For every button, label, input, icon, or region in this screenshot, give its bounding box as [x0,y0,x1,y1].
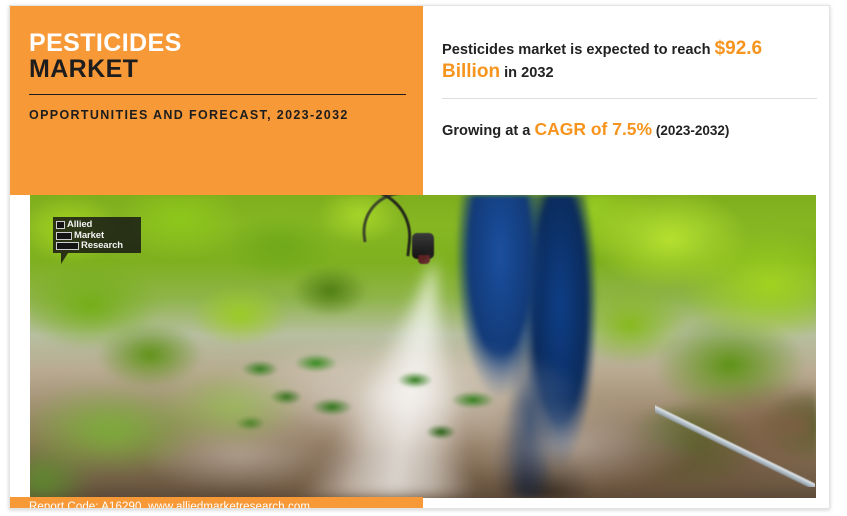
stat-cagr: Growing at a CAGR of 7.5% (2023-2032) [442,119,817,142]
logo-row-1: Allied [56,220,141,230]
stat-market-size-suffix: in 2032 [500,65,554,81]
logo-text-rows: Allied Market Research [53,217,141,253]
photo-plant-right-layer [385,360,525,480]
logo-square-small-icon [56,221,65,229]
screenshot-canvas: PESTICIDES MARKET OPPORTUNITIES AND FORE… [0,0,847,516]
photo-metal-pipe-layer [655,391,815,487]
logo-line-2: Market [74,231,104,241]
logo-square-large-icon [56,242,79,250]
page-subtitle: OPPORTUNITIES AND FORECAST, 2023-2032 [29,106,399,125]
stat-cagr-prefix: Growing at a [442,123,534,139]
page-title: PESTICIDES MARKET [29,30,182,82]
hero-photo: Allied Market Research [30,195,816,498]
stats-panel: Pesticides market is expected to reach $… [442,6,830,195]
report-footer-bar: Report Code: A16290, www.alliedmarketres… [10,497,423,509]
logo-bubble-tail-icon [61,253,68,264]
title-divider [29,94,406,95]
stat-cagr-value: CAGR of 7.5% [534,119,652,139]
market-report-card: PESTICIDES MARKET OPPORTUNITIES AND FORE… [9,5,830,509]
logo-row-3: Research [56,241,141,251]
logo-square-medium-icon [56,232,72,240]
logo-row-2: Market [56,231,141,241]
report-code-text: Report Code: A16290, www.alliedmarketres… [29,501,310,509]
logo-line-1: Allied [67,220,92,230]
stat-market-size-prefix: Pesticides market is expected to reach [442,42,715,58]
stat-cagr-suffix: (2023-2032) [652,123,729,138]
photo-foreground-bokeh-layer [30,370,320,498]
title-line-2: MARKET [29,56,182,82]
stat-market-size: Pesticides market is expected to reach $… [442,38,817,84]
title-panel: PESTICIDES MARKET OPPORTUNITIES AND FORE… [10,6,423,195]
logo-line-3: Research [81,241,123,251]
stats-divider [442,98,817,99]
allied-market-research-logo: Allied Market Research [53,217,149,265]
title-line-1: PESTICIDES [29,30,182,56]
